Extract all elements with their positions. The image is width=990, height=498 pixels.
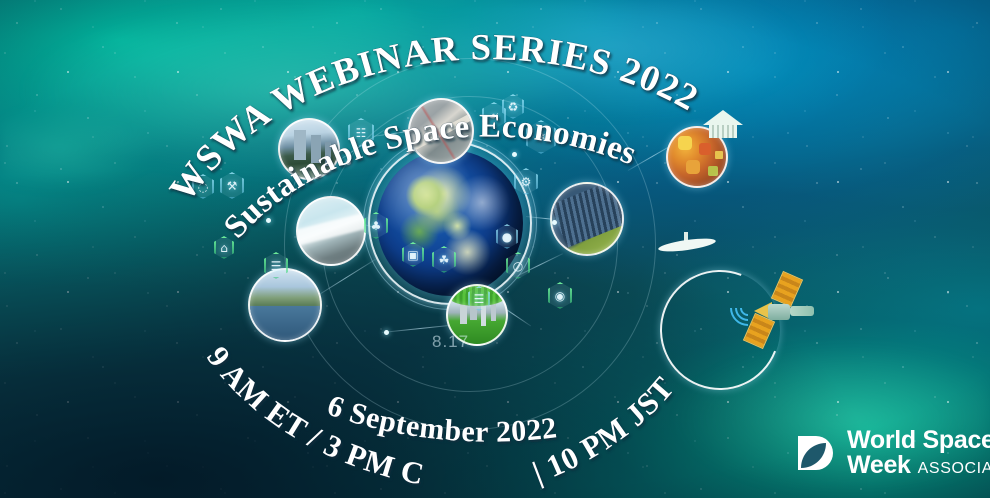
world-space-week-globe-leaf-mark-icon (792, 430, 838, 476)
plant-icon-glyph: ♣ (371, 219, 382, 233)
globe-icon-glyph: ◌ (198, 180, 208, 194)
photo-bubble-city-street-trees (278, 118, 340, 180)
graph-node (512, 152, 517, 157)
ground-station-base (709, 125, 737, 138)
logo-week-text: Week (847, 453, 911, 478)
eye-icon-glyph: ◉ (555, 289, 565, 303)
bar-chart-icon-glyph: ☰ (271, 259, 282, 273)
graphic-numeric-label: 8.17 (432, 332, 469, 352)
logo-line2: Week ASSOCIATION (847, 453, 990, 478)
camera-icon-glyph: ▣ (407, 248, 418, 262)
home-icon-glyph: ⌂ (220, 241, 228, 255)
graph-node (346, 160, 351, 165)
ground-station-roof (703, 110, 743, 125)
communications-satellite-icon (734, 276, 820, 348)
satellite-body (768, 304, 790, 320)
recycle-icon-glyph: ♻ (508, 100, 519, 114)
logo-wordmark: World Space Week ASSOCIATION (847, 428, 990, 477)
graph-node (266, 218, 271, 223)
ground-station-icon (703, 110, 743, 144)
factory-icon: ⚒ (220, 172, 244, 199)
photo-bubble-highway-interchange (408, 98, 474, 164)
wind-turbine-icon-glyph: ☘ (439, 253, 450, 267)
home-icon: ⌂ (214, 236, 234, 259)
document-icon-glyph: ☰ (474, 292, 485, 306)
graph-node (552, 220, 557, 225)
globe-icon: ◌ (192, 174, 214, 199)
photo-bubble-glacier-ice-melt (296, 196, 366, 266)
snowflake-icon-glyph: ❄ (536, 130, 546, 144)
leaf-icon-glyph: ☙ (489, 109, 500, 123)
photo-bubble-mountain-lake (248, 268, 322, 342)
graph-node (384, 330, 389, 335)
gear-icon-glyph: ⚙ (521, 175, 532, 189)
world-space-week-association-logo[interactable]: World Space Week ASSOCIATION (792, 428, 990, 477)
photo-bubble-solar-panel-farm (550, 182, 624, 256)
logo-association-text: ASSOCIATION (918, 461, 990, 477)
logo-line1: World Space (847, 428, 990, 453)
satellite-module (790, 306, 814, 316)
factory-icon-glyph: ⚒ (227, 179, 238, 193)
satellite-solar-panel (771, 271, 803, 307)
bulb-icon-glyph: ○ (513, 259, 523, 273)
earth-globe (377, 150, 523, 296)
poster-canvas: ☷ ☙ ❄ ♻ ⚙ ▣ ☘ ♣ ● ○ ◉ ☰ ☰ ⌂ ◌ ⚒ 8.17 (0, 0, 990, 498)
radar-dish-icon (658, 232, 718, 254)
building-icon-glyph: ☷ (356, 126, 367, 140)
water-drop-icon-glyph: ● (502, 230, 512, 244)
